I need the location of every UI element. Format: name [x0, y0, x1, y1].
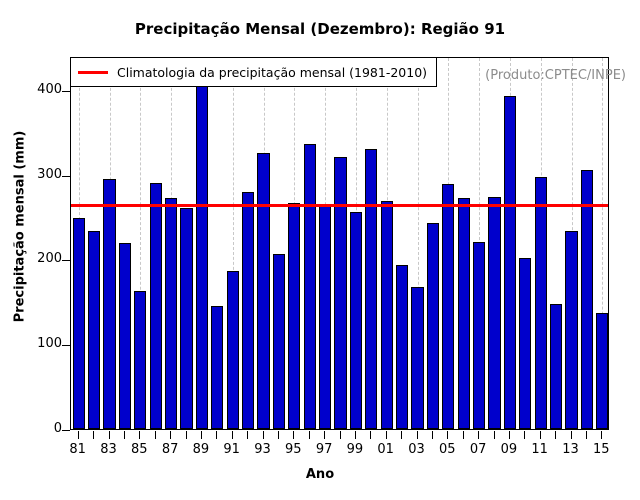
x-tick-mark [324, 431, 325, 439]
x-tick-mark [109, 431, 110, 439]
y-tick-mark [62, 430, 70, 431]
chart-title: Precipitação Mensal (Dezembro): Região 9… [0, 20, 640, 38]
x-tick-mark [232, 431, 233, 439]
y-tick-mark [62, 176, 70, 177]
x-tick-mark [447, 431, 448, 439]
produto-credit: (Produto:CPTEC/INPE) [485, 68, 626, 83]
bar-03 [411, 287, 423, 429]
x-tick-mark [509, 431, 510, 439]
x-tick-mark [201, 431, 202, 439]
x-tick-mark [293, 431, 294, 439]
legend: Climatologia da precipitação mensal (198… [70, 57, 437, 87]
y-tick-mark [62, 345, 70, 346]
plot-inner [71, 58, 608, 429]
x-tick-mark [186, 431, 187, 439]
x-tick-mark [540, 431, 541, 439]
y-tick-label: 100 [2, 336, 62, 351]
x-tick-mark [278, 431, 279, 439]
x-tick-label: 15 [581, 442, 621, 457]
x-tick-mark [524, 431, 525, 439]
bar-90 [211, 306, 223, 429]
climatology-line [71, 204, 608, 207]
x-tick-mark [340, 431, 341, 439]
x-tick-mark [355, 431, 356, 439]
bar-05 [442, 184, 454, 429]
x-tick-mark [601, 431, 602, 439]
bar-12 [550, 304, 562, 429]
bar-02 [396, 265, 408, 429]
x-tick-mark [216, 431, 217, 439]
bar-84 [119, 243, 131, 430]
bar-95 [288, 203, 300, 429]
y-tick-label: 300 [2, 167, 62, 182]
bar-88 [180, 208, 192, 429]
x-tick-mark [555, 431, 556, 439]
climatology-line-swatch [78, 71, 108, 74]
bar-91 [227, 271, 239, 429]
x-axis-title: Ano [0, 467, 640, 482]
bar-08 [488, 197, 500, 429]
x-tick-mark [571, 431, 572, 439]
bar-09 [504, 96, 516, 429]
bar-00 [365, 149, 377, 429]
bar-85 [134, 291, 146, 429]
x-tick-mark [155, 431, 156, 439]
x-tick-mark [78, 431, 79, 439]
x-tick-mark [401, 431, 402, 439]
bars-layer [71, 58, 608, 429]
bar-93 [257, 153, 269, 429]
bar-89 [196, 83, 208, 429]
precipitation-bar-chart: Precipitação Mensal (Dezembro): Região 9… [0, 0, 640, 500]
bar-82 [88, 231, 100, 429]
x-tick-mark [432, 431, 433, 439]
x-tick-mark [494, 431, 495, 439]
bar-01 [381, 201, 393, 429]
y-tick-label: 0 [2, 421, 62, 436]
x-tick-mark [170, 431, 171, 439]
bar-04 [427, 223, 439, 429]
bar-13 [565, 231, 577, 429]
bar-98 [334, 157, 346, 429]
x-tick-mark [247, 431, 248, 439]
bar-97 [319, 206, 331, 429]
y-tick-mark [62, 260, 70, 261]
x-tick-mark [386, 431, 387, 439]
x-tick-mark [417, 431, 418, 439]
plot-area [70, 57, 609, 430]
bar-99 [350, 212, 362, 429]
bar-87 [165, 198, 177, 429]
bar-92 [242, 192, 254, 429]
y-tick-mark [62, 91, 70, 92]
bar-06 [458, 198, 470, 429]
y-tick-label: 400 [2, 82, 62, 97]
bar-11 [535, 177, 547, 429]
x-tick-mark [586, 431, 587, 439]
x-tick-mark [309, 431, 310, 439]
x-tick-mark [263, 431, 264, 439]
bar-94 [273, 254, 285, 429]
legend-label: Climatologia da precipitação mensal (198… [117, 65, 427, 80]
bar-83 [103, 179, 115, 429]
bar-10 [519, 258, 531, 429]
bar-86 [150, 183, 162, 429]
x-tick-mark [139, 431, 140, 439]
x-tick-mark [93, 431, 94, 439]
x-tick-mark [124, 431, 125, 439]
bar-81 [73, 218, 85, 429]
x-tick-mark [370, 431, 371, 439]
bar-96 [304, 144, 316, 429]
bar-07 [473, 242, 485, 429]
y-tick-label: 200 [2, 251, 62, 266]
bar-15 [596, 313, 608, 429]
x-tick-mark [463, 431, 464, 439]
bar-14 [581, 170, 593, 429]
x-tick-mark [478, 431, 479, 439]
